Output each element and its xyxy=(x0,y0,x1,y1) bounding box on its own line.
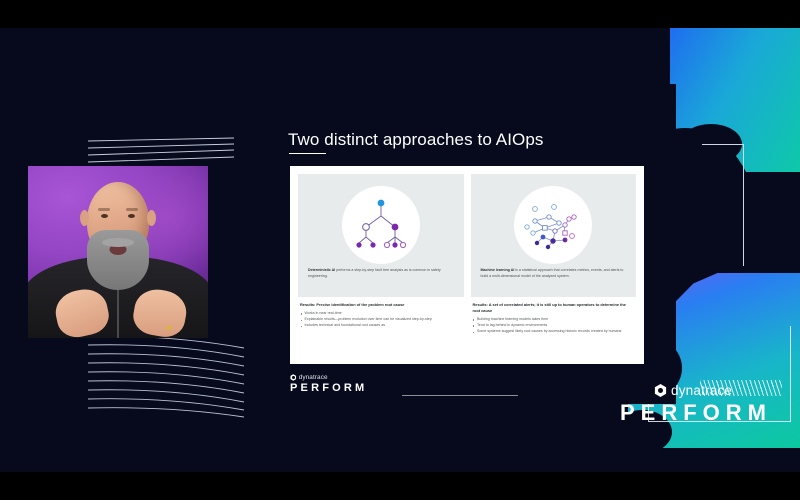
dynatrace-hexagon-icon-large xyxy=(654,384,667,397)
results-column-left: Results: Precise identification of the p… xyxy=(298,302,464,335)
slide-footer-logo: dynatrace PERFORM xyxy=(290,374,367,394)
presenter-ring xyxy=(166,326,172,330)
correlation-network-diagram xyxy=(521,195,585,255)
dynatrace-text-large: dynatrace xyxy=(671,383,732,398)
converging-lines-ornament-top xyxy=(88,136,234,164)
logo-rule-line xyxy=(402,395,518,396)
caption-lead-left: Deterministic AI xyxy=(308,268,335,272)
corner-bracket-line-top-right xyxy=(702,144,744,266)
caption-lead-right: Machine learning AI xyxy=(481,268,515,272)
slide-content: Two distinct approaches to AIOps xyxy=(256,84,676,404)
presenter-eye-right xyxy=(128,214,135,218)
figure-container-left xyxy=(306,182,456,268)
comparison-panels: Deterministic AI performs a step-by-step… xyxy=(298,174,636,297)
perform-text-large: PERFORM xyxy=(620,400,772,426)
panel-deterministic-ai: Deterministic AI performs a step-by-step… xyxy=(298,174,464,297)
curved-lines-ornament-bottom xyxy=(86,334,246,418)
dynatrace-wordmark-large: dynatrace xyxy=(654,383,772,398)
presenter-video-tile[interactable] xyxy=(28,166,208,338)
presentation-canvas: Two distinct approaches to AIOps xyxy=(0,28,800,472)
results-section: Results: Precise identification of the p… xyxy=(298,302,636,335)
panel-caption-right: Machine learning AI is a statistical app… xyxy=(479,268,629,290)
slide-card: Deterministic AI performs a step-by-step… xyxy=(290,166,644,364)
presenter-ear-right xyxy=(147,210,156,226)
dynatrace-wordmark-small: dynatrace xyxy=(290,374,367,381)
presenter-brow-left xyxy=(98,208,110,211)
list-item: Includes technical and foundational root… xyxy=(300,323,462,328)
dynatrace-hexagon-icon xyxy=(290,374,297,381)
perform-text-small: PERFORM xyxy=(290,382,367,394)
results-column-right: Results: A set of correlated alerts; it … xyxy=(471,302,637,335)
title-underline-accent xyxy=(289,153,326,154)
fault-tree-diagram xyxy=(350,196,412,254)
figure-container-right xyxy=(479,182,629,268)
panel-machine-learning-ai: Machine learning AI is a statistical app… xyxy=(471,174,637,297)
page-title: Two distinct approaches to AIOps xyxy=(288,130,544,150)
figure-circle-left xyxy=(342,186,420,264)
presenter-mustache xyxy=(102,238,134,247)
presenter-ear-left xyxy=(80,210,89,226)
list-item: Works in near real-time xyxy=(300,311,462,316)
letterbox-bar-top xyxy=(0,0,800,28)
results-title-left: Results: Precise identification of the p… xyxy=(300,302,462,308)
screen-recording-frame: Two distinct approaches to AIOps xyxy=(0,0,800,500)
presenter-eye-left xyxy=(101,214,108,218)
panel-caption-left: Deterministic AI performs a step-by-step… xyxy=(306,268,456,290)
presenter-brow-right xyxy=(126,208,138,211)
results-title-right: Results: A set of correlated alerts; it … xyxy=(473,302,635,314)
results-bullet-list-right: Building machine learning models takes t… xyxy=(473,317,635,335)
figure-circle-right xyxy=(514,186,592,264)
event-branding: dynatrace PERFORM xyxy=(620,383,772,426)
results-bullet-list-left: Works in near real-time Explainable resu… xyxy=(300,311,462,329)
list-item: Explainable results—problem evolution ov… xyxy=(300,317,462,322)
list-item: Tend to lag behind in dynamic environmen… xyxy=(473,323,635,328)
list-item: Some systems suggest likely root causes … xyxy=(473,329,635,334)
letterbox-bar-bottom xyxy=(0,472,800,500)
dynatrace-text-small: dynatrace xyxy=(299,374,328,381)
list-item: Building machine learning models takes t… xyxy=(473,317,635,322)
